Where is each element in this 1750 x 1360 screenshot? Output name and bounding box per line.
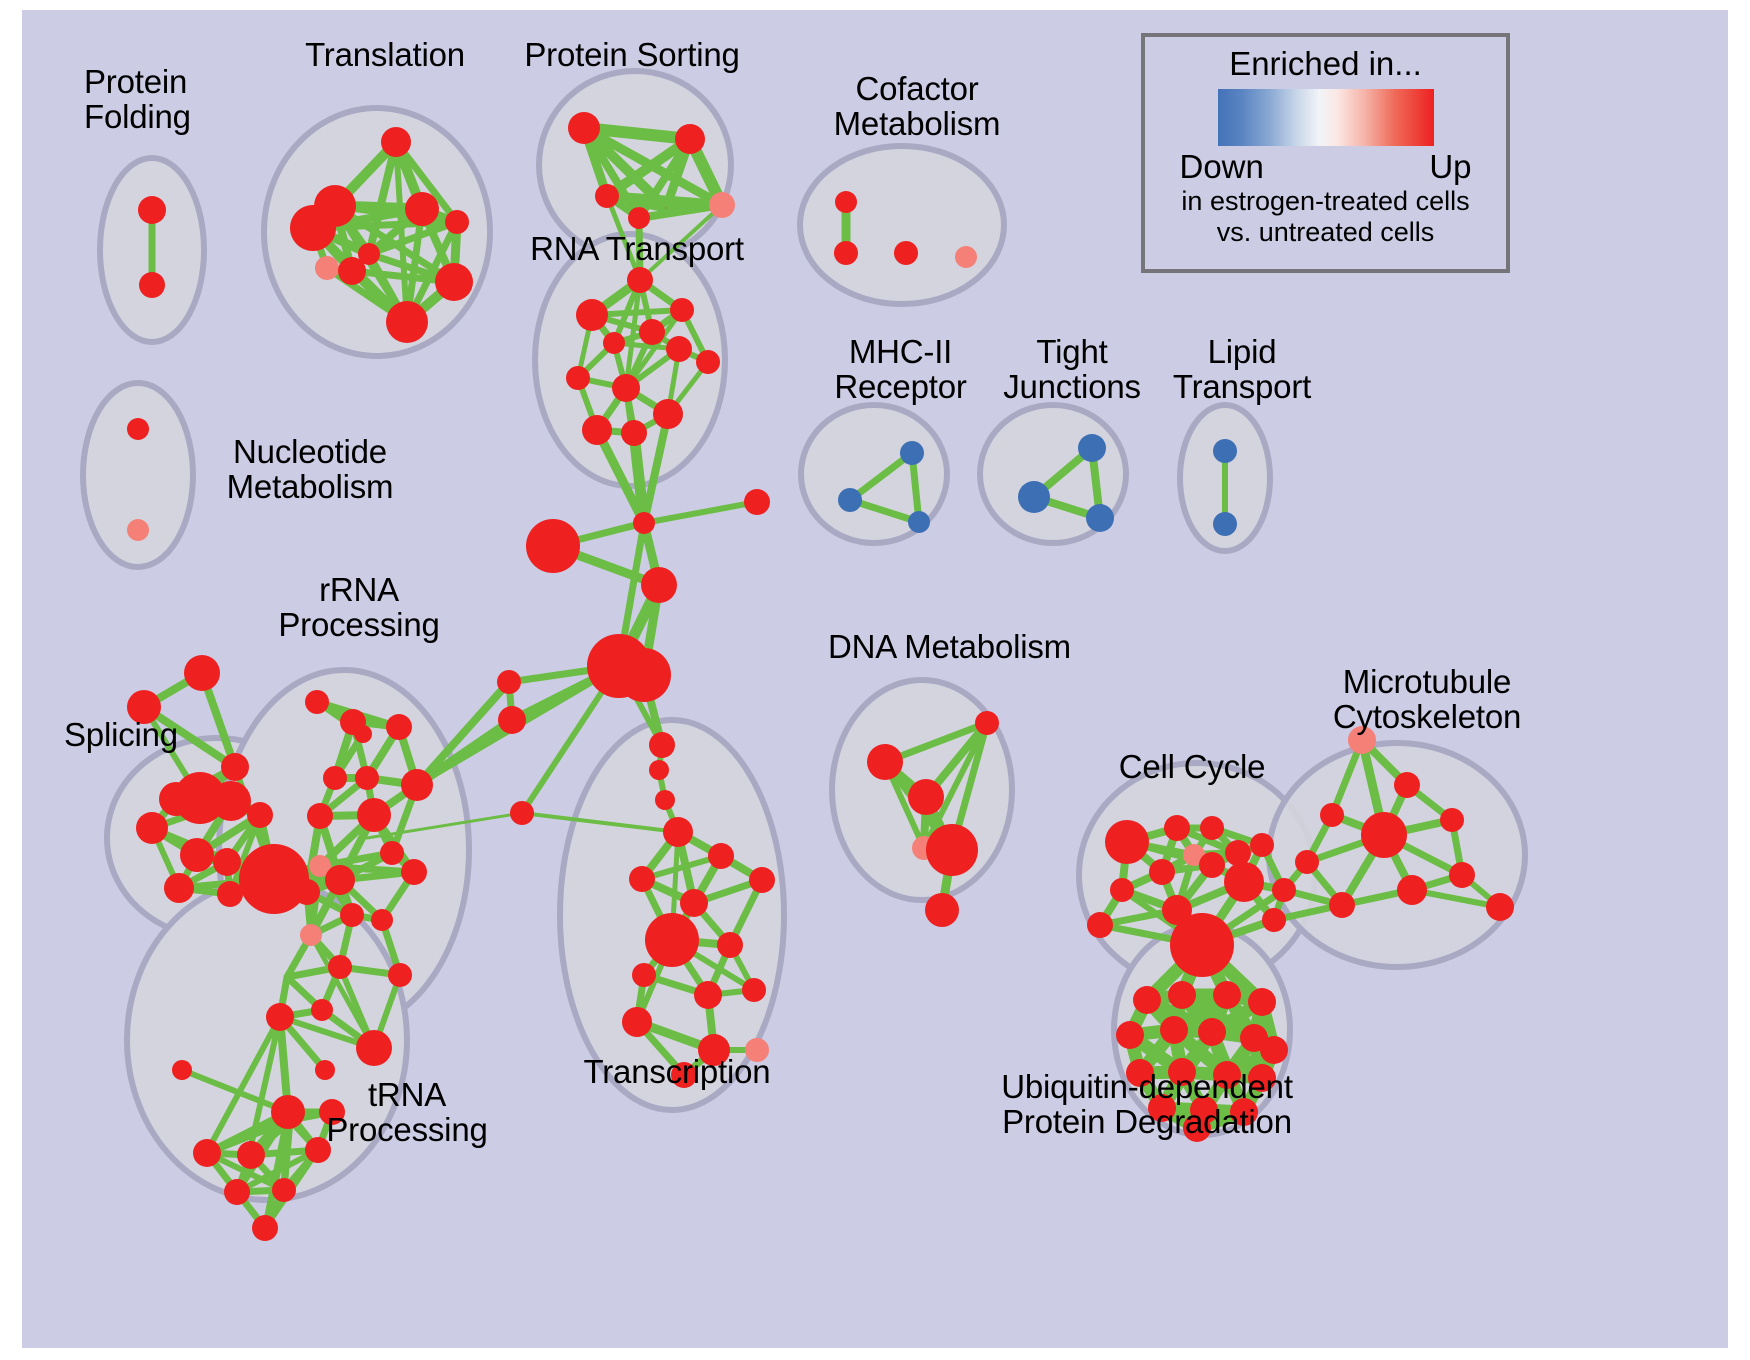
legend-colorbar <box>1218 89 1434 146</box>
cluster-label-cofactor-metabolism: Cofactor Metabolism <box>802 72 1032 142</box>
cluster-label-rna-transport: RNA Transport <box>512 232 762 267</box>
figure-canvas: .hull { fill:#d4d4de; stroke:#a9a9c4; st… <box>0 0 1750 1360</box>
cluster-label-mhc-ii-receptor: MHC-II Receptor <box>808 335 993 405</box>
legend-caption-line1: in estrogen-treated cells <box>1181 186 1469 217</box>
cluster-label-tight-junctions: Tight Junctions <box>982 335 1162 405</box>
hull-cofactor-metabolism <box>800 146 1004 304</box>
cluster-label-rrna-processing: rRNA Processing <box>264 573 454 643</box>
cluster-label-ubiquitin-degradation: Ubiquitin-dependent Protein Degradation <box>977 1070 1317 1140</box>
cluster-label-protein-folding: Protein Folding <box>84 65 191 135</box>
cluster-label-lipid-transport: Lipid Transport <box>1152 335 1332 405</box>
legend-low-label: Down <box>1180 148 1264 186</box>
legend-title: Enriched in... <box>1229 45 1422 83</box>
cluster-label-cell-cycle: Cell Cycle <box>1097 750 1287 785</box>
cluster-label-microtubule-cytoskeleton: Microtubule Cytoskeleton <box>1297 665 1557 735</box>
legend-high-label: Up <box>1429 148 1471 186</box>
cluster-label-nucleotide-metabolism: Nucleotide Metabolism <box>200 435 420 505</box>
legend-caption-line2: vs. untreated cells <box>1217 217 1435 248</box>
cluster-label-translation: Translation <box>290 38 480 73</box>
cluster-label-splicing: Splicing <box>64 718 178 753</box>
legend-endpoint-labels: Down Up <box>1176 148 1476 186</box>
cluster-label-transcription: Transcription <box>562 1055 792 1090</box>
legend-panel: Enriched in... Down Up in estrogen-treat… <box>1141 33 1510 273</box>
cluster-label-dna-metabolism: DNA Metabolism <box>812 630 1087 665</box>
cluster-label-trna-processing: tRNA Processing <box>312 1078 502 1148</box>
network-enrichment-map: .hull { fill:#d4d4de; stroke:#a9a9c4; st… <box>22 10 1728 1348</box>
cluster-label-protein-sorting: Protein Sorting <box>502 38 762 73</box>
